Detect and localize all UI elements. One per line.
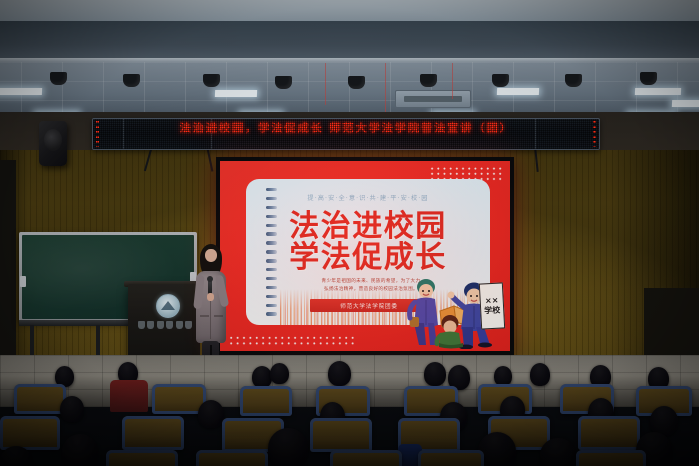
slide-headline-line1: 法治进校园 bbox=[246, 211, 490, 242]
seat bbox=[14, 384, 66, 414]
led-banner-text: 法治进校园，学法促成长 师范大学法学院普法宣讲（团） bbox=[93, 122, 599, 133]
audience-head bbox=[60, 396, 84, 422]
audience-head bbox=[252, 366, 272, 388]
projection-screen: 提·高·安·全·意·识·共·建·平·安·校·园 法治进校园 学法促成长 青少年是… bbox=[216, 157, 514, 355]
podium-glyph bbox=[157, 321, 164, 329]
seat bbox=[240, 386, 292, 416]
slide-dot-pattern-bottom-left bbox=[228, 335, 356, 346]
chalkboard-clip-left bbox=[20, 276, 26, 287]
audience-head bbox=[530, 363, 550, 386]
audience-head bbox=[268, 428, 308, 466]
audience-head bbox=[494, 366, 512, 386]
spiral-ring bbox=[266, 295, 277, 298]
ceiling-spotlight bbox=[420, 74, 437, 87]
slide-headline: 法治进校园 学法促成长 bbox=[246, 211, 490, 273]
podium-glyph bbox=[147, 321, 154, 329]
ceiling-light-panel bbox=[215, 90, 257, 97]
ceiling-spotlight bbox=[492, 74, 509, 87]
audience-head bbox=[424, 362, 446, 386]
ceiling-ac-vent bbox=[395, 90, 471, 108]
presenter-pocket bbox=[214, 315, 223, 317]
seat bbox=[122, 416, 184, 450]
slide-tagline: 提·高·安·全·意·识·共·建·平·安·校·园 bbox=[246, 193, 490, 202]
school-sign-line2: 学校 bbox=[484, 306, 501, 317]
ceiling-spotlight bbox=[275, 76, 292, 89]
audience-head bbox=[198, 400, 224, 428]
podium-glyph bbox=[185, 321, 192, 329]
slide-illustration-students: ×× 学校 bbox=[400, 275, 508, 349]
ceiling-spotlight bbox=[123, 74, 140, 87]
seat bbox=[418, 450, 484, 466]
audience-area bbox=[0, 358, 699, 466]
ceiling-light-panel bbox=[635, 88, 681, 95]
podium-glyph bbox=[176, 321, 183, 329]
audience-head bbox=[328, 361, 351, 386]
slide-headline-line2: 学法促成长 bbox=[246, 242, 490, 273]
school-crest-icon bbox=[156, 294, 180, 318]
spiral-ring bbox=[266, 277, 277, 280]
presenter-face bbox=[205, 249, 217, 262]
seat bbox=[196, 450, 268, 466]
spiral-ring bbox=[266, 312, 277, 315]
podium-glyph bbox=[166, 321, 173, 329]
ceiling-spotlight bbox=[565, 74, 582, 87]
presentation-slide: 提·高·安·全·意·识·共·建·平·安·校·园 法治进校园 学法促成长 青少年是… bbox=[220, 161, 510, 351]
presenter-hand bbox=[207, 293, 214, 301]
seat bbox=[576, 450, 646, 466]
ceiling-spotlight bbox=[203, 74, 220, 87]
wall-speaker-icon bbox=[39, 121, 67, 166]
spiral-ring bbox=[266, 286, 277, 289]
audience-red-jacket bbox=[110, 380, 148, 412]
spiral-ring bbox=[266, 304, 277, 307]
seat bbox=[310, 418, 372, 452]
seat bbox=[578, 416, 640, 450]
ceiling-spotlight bbox=[640, 72, 657, 85]
seat bbox=[0, 416, 60, 450]
podium-glyph-row bbox=[138, 321, 192, 329]
audience-head bbox=[62, 434, 98, 466]
presenter-speaker bbox=[193, 245, 229, 373]
school-sign: ×× 学校 bbox=[479, 282, 505, 329]
auditorium-scene: 法治进校园，学法促成长 师范大学法学院普法宣讲（团） bbox=[0, 0, 699, 466]
ceiling-light-panel bbox=[497, 88, 539, 95]
ceiling-light-panel bbox=[672, 100, 699, 107]
seat bbox=[330, 450, 402, 466]
seat bbox=[106, 450, 178, 466]
ceiling-light-panel bbox=[0, 88, 42, 95]
wall-left-recess bbox=[0, 160, 16, 370]
ceiling-wire bbox=[452, 63, 453, 99]
audience-head bbox=[540, 438, 576, 466]
ceiling-soffit bbox=[0, 21, 699, 60]
audience-head bbox=[270, 363, 289, 384]
ceiling-rear-slab bbox=[0, 0, 699, 22]
spiral-ring bbox=[266, 188, 277, 191]
ceiling-spotlight bbox=[50, 72, 67, 85]
spiral-ring bbox=[266, 206, 277, 209]
presenter-pocket bbox=[200, 315, 209, 317]
led-scrolling-banner: 法治进校园，学法促成长 师范大学法学院普法宣讲（团） bbox=[92, 118, 600, 150]
ceiling-wire bbox=[385, 63, 386, 113]
podium-glyph bbox=[138, 321, 145, 329]
ceiling-spotlight bbox=[348, 76, 365, 89]
ceiling-wire bbox=[325, 63, 326, 105]
